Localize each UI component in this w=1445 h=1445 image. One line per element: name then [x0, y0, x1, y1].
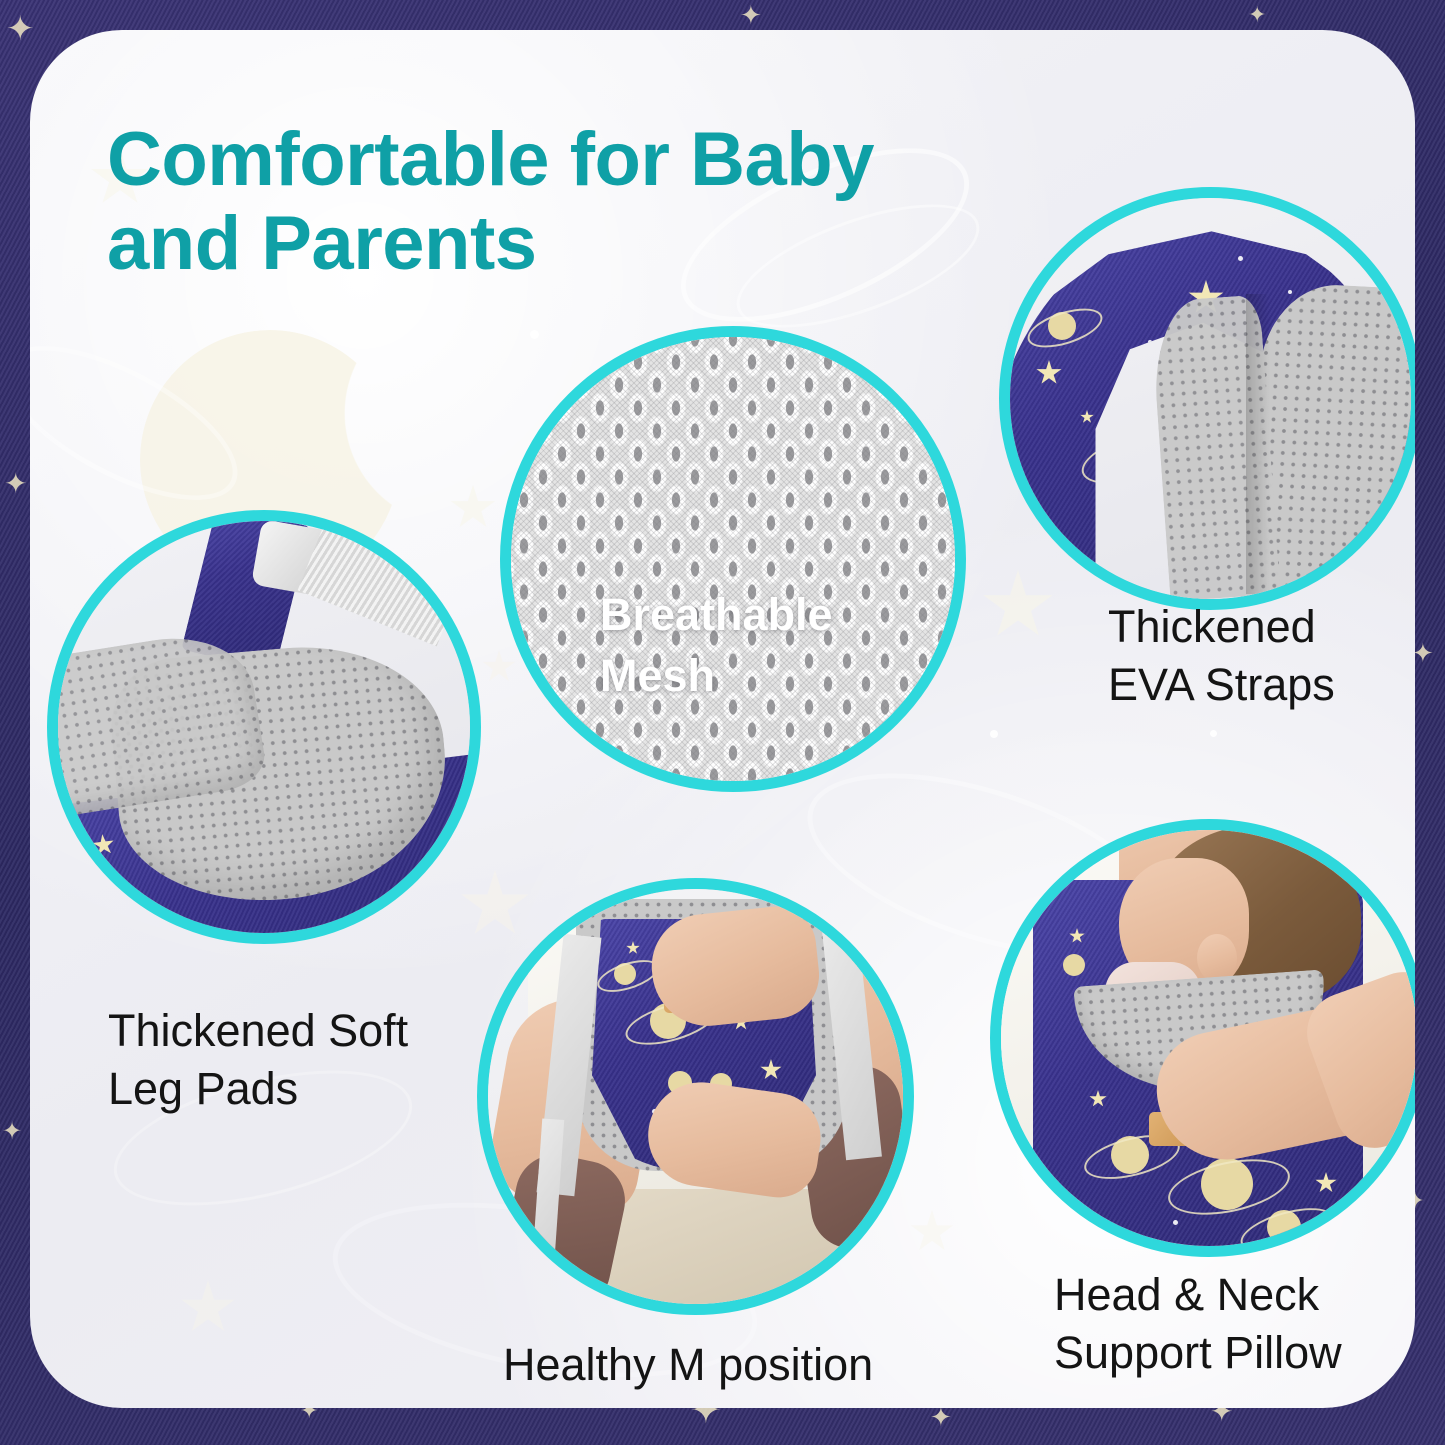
- feature-image-healthy-m-position: [477, 878, 914, 1315]
- fabric-star-icon: [626, 941, 640, 955]
- feature-image-head-neck-support-pillow: [990, 819, 1415, 1257]
- mesh-weave-overlay: [511, 337, 955, 781]
- planet-ring-doodle-icon: [30, 315, 260, 531]
- background-star-icon: ✦: [1412, 640, 1434, 666]
- m-position-photo: [488, 889, 903, 1304]
- star-speck-icon: [1210, 730, 1217, 737]
- feature-label-head-neck-support-pillow: Head & Neck Support Pillow: [1054, 1266, 1342, 1381]
- eva-strap-photo: [1010, 198, 1411, 599]
- background-star-icon: ✦: [1248, 4, 1266, 26]
- star-doodle-icon: [180, 1280, 236, 1336]
- content-panel: Comfortable for Baby and Parents Breatha…: [30, 30, 1415, 1408]
- fabric-speck-icon: [1288, 290, 1292, 294]
- fabric-planet-ring-icon: [1023, 301, 1107, 356]
- fabric-speck-icon: [1173, 1220, 1178, 1225]
- feature-image-breathable-mesh: [500, 326, 966, 792]
- feature-label-thickened-soft-leg-pads: Thickened Soft Leg Pads: [108, 1002, 408, 1117]
- fabric-star-icon: [1315, 1172, 1337, 1194]
- feature-label-thickened-eva-straps: Thickened EVA Straps: [1108, 598, 1335, 713]
- infographic-canvas: ✦ ✦ ✦ ✦ ✦ ✦ ✦ ✦ ✦ ✦ ✦ Comfortabl: [0, 0, 1445, 1445]
- fabric-star-icon: [91, 833, 116, 858]
- fabric-star-icon: [1116, 380, 1132, 396]
- fabric-star-icon: [1080, 410, 1094, 424]
- fabric-speck-icon: [1238, 256, 1243, 261]
- feature-label-healthy-m-position: Healthy M position: [503, 1336, 873, 1394]
- background-star-icon: ✦: [4, 470, 27, 498]
- fabric-speck-icon: [1148, 340, 1152, 344]
- star-speck-icon: [990, 730, 998, 738]
- background-star-icon: ✦: [2, 1120, 22, 1144]
- webbing-strap: [298, 522, 465, 647]
- fabric-star-icon: [1069, 928, 1085, 944]
- fabric-planet-icon: [1108, 436, 1148, 476]
- fabric-star-icon: [760, 1059, 782, 1081]
- fabric-star-icon: [1036, 360, 1062, 386]
- background-star-icon: ✦: [6, 12, 35, 46]
- page-title: Comfortable for Baby and Parents: [107, 118, 1067, 285]
- fabric-moon-icon: [1063, 954, 1085, 976]
- mesh-fabric-photo: [511, 337, 955, 781]
- head-support-photo: [1001, 830, 1415, 1246]
- feature-image-thickened-eva-straps: [999, 187, 1415, 610]
- background-star-icon: ✦: [740, 2, 762, 28]
- leg-pad-photo: [58, 521, 470, 933]
- fabric-star-icon: [1089, 1090, 1107, 1108]
- feature-label-breathable-mesh: Breathable Mesh: [600, 585, 833, 707]
- feature-image-thickened-soft-leg-pads: [47, 510, 481, 944]
- strap-shadow: [1246, 294, 1270, 594]
- star-doodle-icon: [910, 1210, 954, 1254]
